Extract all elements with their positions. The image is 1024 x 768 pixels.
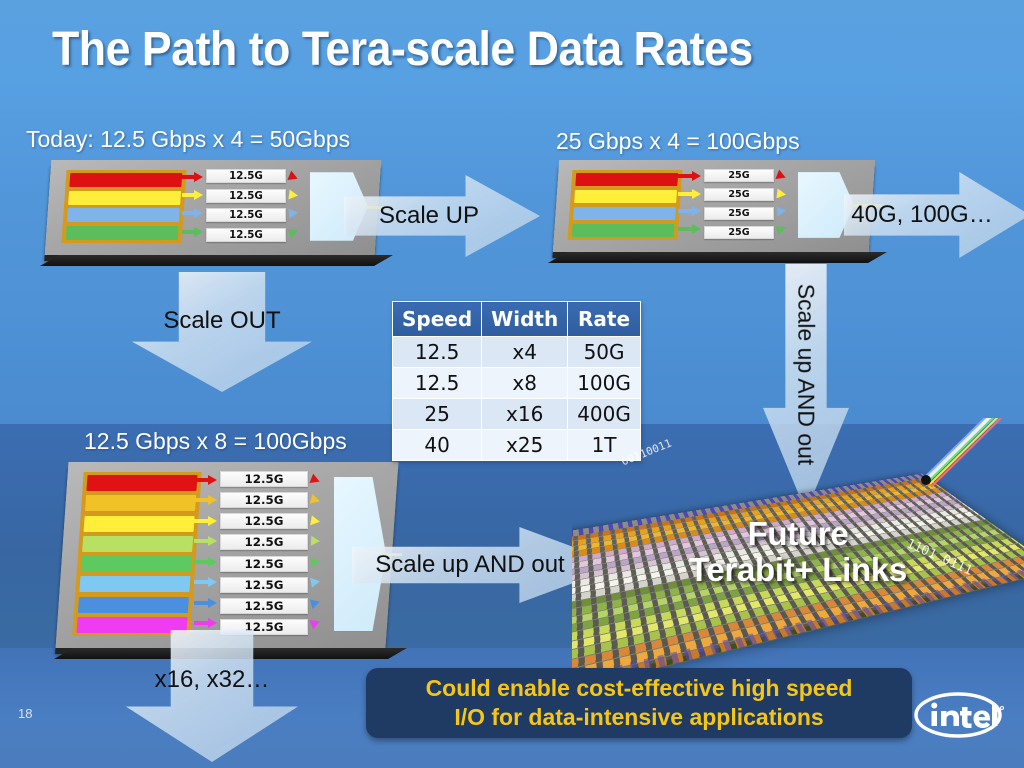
lane-bar <box>78 597 189 613</box>
arrow-rates-out[interactable]: 40G, 100G… <box>844 172 1024 258</box>
page-title: The Path to Tera-scale Data Rates <box>52 22 753 77</box>
rate-tag: 12.5G <box>220 471 308 487</box>
arrow-scale-up[interactable]: Scale UP <box>344 175 540 257</box>
converge-arrow-icon <box>310 577 321 588</box>
callout-banner: Could enable cost-effective high speed I… <box>366 668 912 738</box>
cell-speed: 12.5 <box>393 337 482 368</box>
rate-tag: 12.5G <box>206 169 286 183</box>
feed-line <box>678 227 694 231</box>
lane-bar <box>68 191 181 205</box>
rate-tag: 25G <box>704 169 774 182</box>
caption-today: Today: 12.5 Gbps x 4 = 50Gbps <box>26 126 350 153</box>
lane-bar <box>81 556 192 572</box>
slide-canvas: The Path to Tera-scale Data Rates Today:… <box>0 0 1024 768</box>
table-header-row: Speed Width Rate <box>393 302 641 337</box>
lane-bar <box>67 208 180 222</box>
feed-line <box>182 175 196 179</box>
slide-number: 18 <box>18 706 32 721</box>
feed-line <box>194 560 210 564</box>
table-header-speed: Speed <box>393 302 482 337</box>
feed-line <box>194 498 210 502</box>
rate-tag: 25G <box>704 226 774 239</box>
lane-bar <box>69 173 182 187</box>
lane-frame <box>72 472 201 636</box>
lane-bar <box>572 224 675 237</box>
rate-tag-column: 12.5G12.5G12.5G12.5G <box>206 169 286 242</box>
caption-scale-out: 12.5 Gbps x 8 = 100Gbps <box>84 428 347 455</box>
arrow-multipliers[interactable]: x16, x32… <box>126 630 298 762</box>
rate-tag: 12.5G <box>220 534 308 550</box>
lane-bar <box>66 226 179 240</box>
fiber-optic-cable-icon <box>890 418 1010 506</box>
feed-line <box>194 601 210 605</box>
rate-tag: 25G <box>704 188 774 201</box>
terabit-label-line2: Terabit+ Links <box>572 552 1024 588</box>
converge-arrow-icon <box>288 208 298 219</box>
feed-line <box>678 192 694 196</box>
converge-arrow-icon <box>311 557 321 567</box>
feed-line <box>182 230 196 234</box>
cell-rate: 50G <box>568 337 641 368</box>
converge-arrow-icon <box>288 190 298 201</box>
rate-tag: 12.5G <box>206 228 286 242</box>
lane-bar <box>84 516 195 532</box>
arrow-scale-up-and-out-horizontal-label: Scale up AND out <box>375 551 564 579</box>
cell-speed: 40 <box>393 430 482 461</box>
terabit-label-line1: Future <box>572 516 1024 552</box>
table-row: 12.5 x8 100G <box>393 368 641 399</box>
rate-tag: 12.5G <box>220 513 308 529</box>
feed-line <box>182 193 196 197</box>
caption-scale-up: 25 Gbps x 4 = 100Gbps <box>556 128 800 155</box>
chip-board-today: 12.5G12.5G12.5G12.5G <box>48 160 378 255</box>
chip-board-scale-up: 25G25G25G25G <box>556 160 872 252</box>
feed-line <box>678 174 694 178</box>
lane-bar <box>85 495 196 511</box>
arrow-scale-out[interactable]: Scale OUT <box>132 272 312 392</box>
rate-tag: 12.5G <box>206 189 286 203</box>
lane-bar <box>575 173 678 186</box>
binary-text-left: 00110011 <box>619 437 673 469</box>
feed-line <box>194 478 210 482</box>
callout-line2: I/O for data-intensive applications <box>454 703 823 732</box>
rate-tag-column: 12.5G12.5G12.5G12.5G12.5G12.5G12.5G12.5G <box>220 471 308 635</box>
arrow-scale-up-and-out-vertical-label: Scale up AND out <box>793 283 820 465</box>
callout-line1: Could enable cost-effective high speed <box>426 674 853 703</box>
feed-line <box>194 580 210 584</box>
converge-arrow-icon <box>310 515 321 526</box>
intel-logo <box>908 686 1008 744</box>
converge-arrow-icon <box>776 206 786 217</box>
terabit-label: Future Terabit+ Links <box>572 516 1024 589</box>
arrow-down-icon <box>126 630 298 762</box>
table-header-rate: Rate <box>568 302 641 337</box>
rate-tag: 12.5G <box>220 577 308 593</box>
feed-line <box>194 621 210 625</box>
lane-bar <box>573 207 676 220</box>
feed-line <box>678 209 694 213</box>
feed-line <box>194 539 210 543</box>
converge-arrow-icon <box>776 188 786 199</box>
cell-speed: 12.5 <box>393 368 482 399</box>
table-row: 12.5 x4 50G <box>393 337 641 368</box>
cell-width: x16 <box>482 399 568 430</box>
cell-width: x8 <box>482 368 568 399</box>
lane-frame <box>61 170 186 243</box>
cell-rate: 100G <box>568 368 641 399</box>
feed-line <box>194 519 210 523</box>
cell-width: x25 <box>482 430 568 461</box>
cell-width: x4 <box>482 337 568 368</box>
lane-bar <box>574 190 677 203</box>
cell-speed: 25 <box>393 399 482 430</box>
feed-line <box>182 211 196 215</box>
converge-arrow-icon <box>311 536 321 546</box>
rate-tag: 12.5G <box>220 492 308 508</box>
table-header-width: Width <box>482 302 568 337</box>
lane-bar <box>86 475 197 491</box>
rate-tag-column: 25G25G25G25G <box>704 169 774 239</box>
board-edge <box>548 252 887 263</box>
rate-tag: 12.5G <box>220 598 308 614</box>
chip-board-scale-out: 12.5G12.5G12.5G12.5G12.5G12.5G12.5G12.5G <box>62 462 392 648</box>
board-edge <box>40 255 393 266</box>
lane-bar <box>79 576 190 592</box>
rate-tag: 12.5G <box>206 208 286 222</box>
arrow-rates-out-label: 40G, 100G… <box>851 201 992 229</box>
arrow-scale-up-label: Scale UP <box>379 202 479 230</box>
arrow-scale-out-label: Scale OUT <box>163 307 280 335</box>
arrow-multipliers-label: x16, x32… <box>155 666 270 694</box>
rate-tag: 25G <box>704 207 774 220</box>
lane-frame <box>568 170 683 240</box>
lane-bar <box>82 536 193 552</box>
rate-tag: 12.5G <box>220 556 308 572</box>
